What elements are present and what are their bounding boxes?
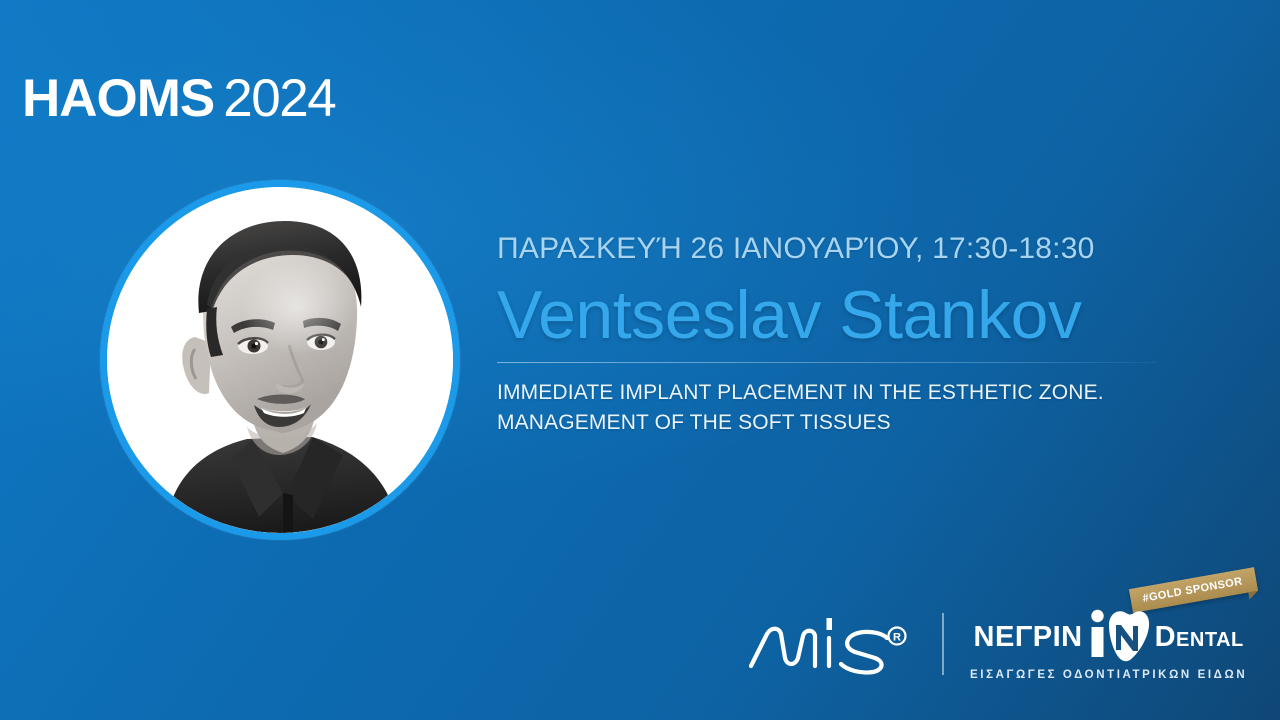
- session-date: ΠΑΡΑΣΚΕΥΉ 26 ΙΑΝΟΥΑΡΊΟΥ, 17:30-18:30: [497, 232, 1197, 265]
- speaker-portrait-image: [107, 187, 453, 533]
- event-brand-logo: HAOMS 2024: [22, 72, 335, 125]
- talk-title-line-1: IMMEDIATE IMPLANT PLACEMENT IN THE ESTHE…: [497, 378, 1197, 408]
- negrin-wordmark-right: Dental: [1155, 623, 1244, 652]
- sponsor-bar: R #GOLD SPONSOR ΝΕΓΡΙΝ: [745, 598, 1247, 690]
- session-info: ΠΑΡΑΣΚΕΥΉ 26 ΙΑΝΟΥΑΡΊΟΥ, 17:30-18:30 Ven…: [497, 232, 1197, 438]
- divider-rule: [497, 362, 1157, 363]
- presentation-slide: HAOMS 2024: [0, 0, 1280, 720]
- talk-title: IMMEDIATE IMPLANT PLACEMENT IN THE ESTHE…: [497, 378, 1197, 438]
- registered-trademark-mark: R: [889, 628, 906, 645]
- brand-year: 2024: [223, 72, 335, 125]
- speaker-portrait-frame: [100, 180, 460, 540]
- negrin-tagline: ΕΙΣΑΓΩΓΕΣ ΟΔΟΝΤΙΑΤΡΙΚΩΝ ΕΙΔΩΝ: [970, 669, 1247, 681]
- brand-name: HAOMS: [22, 72, 214, 125]
- negrin-dental-logo: #GOLD SPONSOR ΝΕΓΡΙΝ Dental: [970, 608, 1247, 681]
- in-tooth-icon: [1087, 605, 1151, 663]
- negrin-wordmark-left: ΝΕΓΡΙΝ: [974, 623, 1083, 652]
- speaker-name: Ventseslav Stankov: [497, 281, 1197, 350]
- mis-logo: R: [745, 608, 920, 680]
- sponsor-divider: [942, 613, 944, 675]
- talk-title-line-2: MANAGEMENT OF THE SOFT TISSUES: [497, 408, 1197, 438]
- svg-text:R: R: [893, 632, 901, 644]
